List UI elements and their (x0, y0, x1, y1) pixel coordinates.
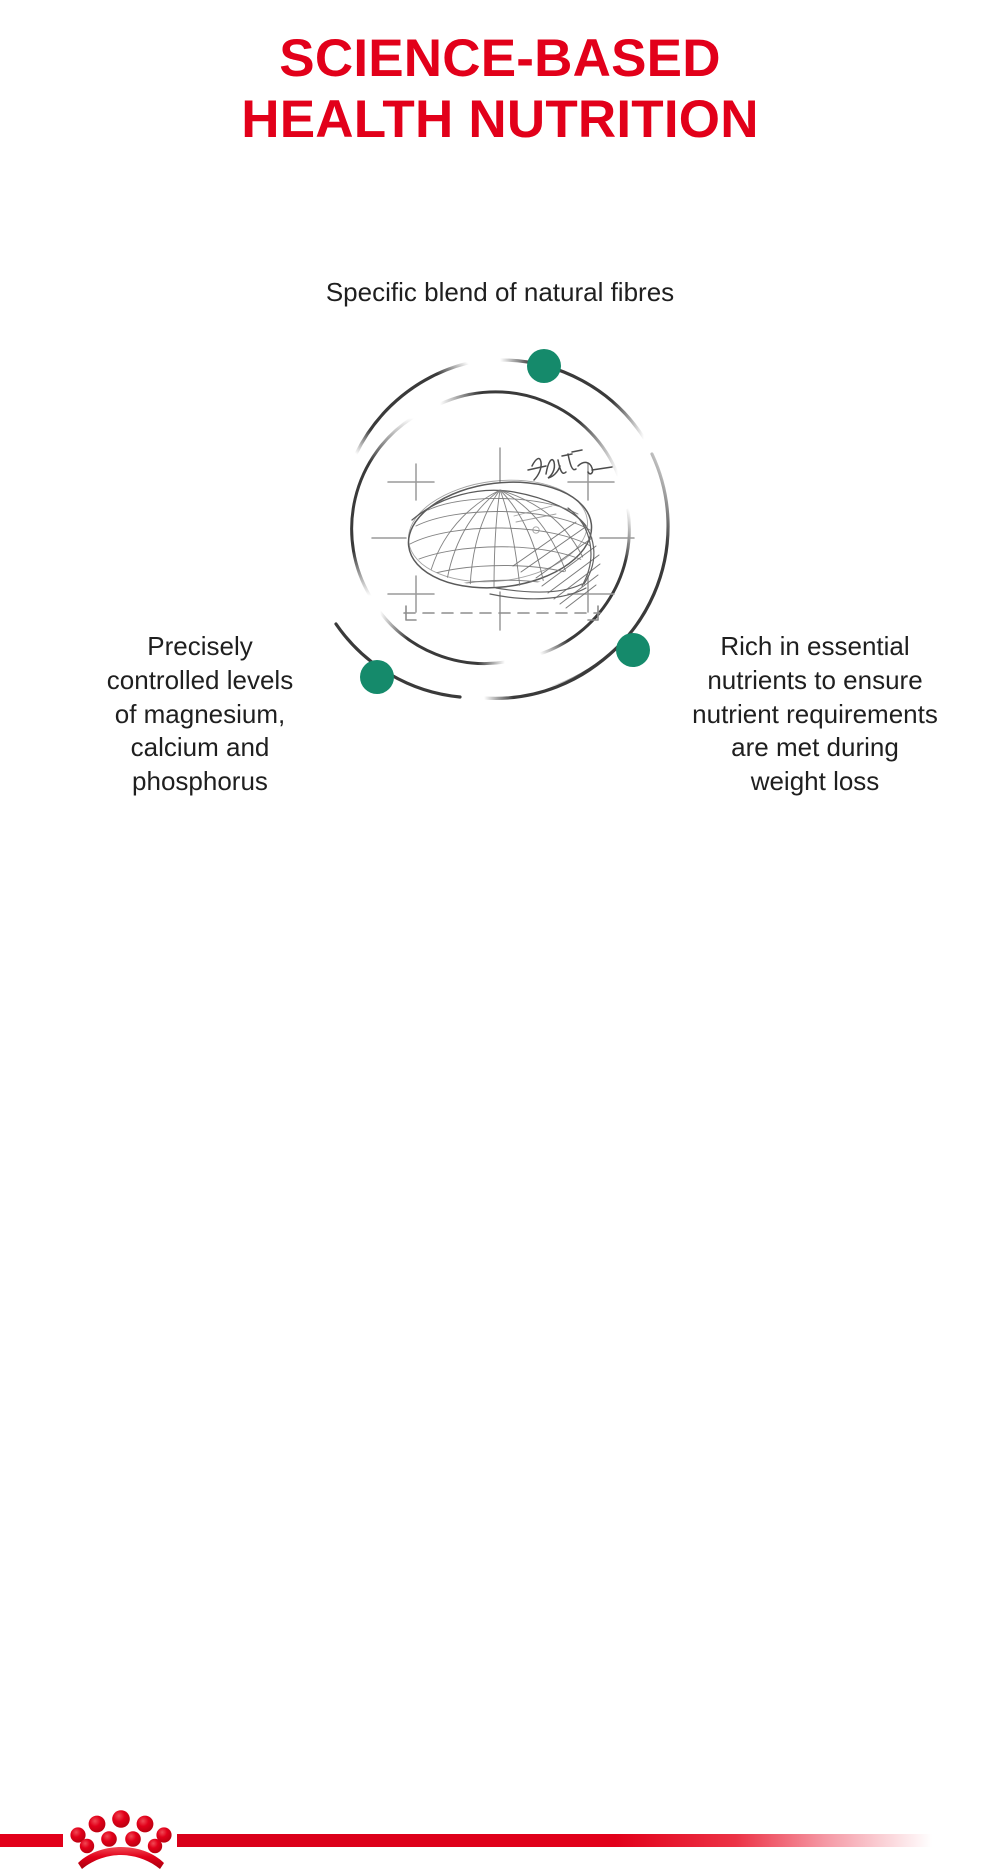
benefit-caption-right-line-2: nutrients to ensure (655, 664, 975, 698)
kibble-meridians (428, 490, 588, 590)
brand-rule-left (0, 1834, 63, 1847)
handwritten-annotation (528, 450, 612, 480)
benefit-caption-top: Specific blend of natural fibres (180, 276, 820, 310)
page-title-line-1: SCIENCE-BASED (0, 28, 1000, 89)
marker-dot-top (527, 349, 561, 383)
promo-panel: SCIENCE-BASED HEALTH NUTRITION Specific … (0, 0, 1000, 1000)
marker-dot-right (616, 633, 650, 667)
royal-canin-crown-logo (62, 1805, 180, 1875)
marker-dot-bottom-left (360, 660, 394, 694)
kibble-contour-sweeps (490, 508, 594, 599)
registration-marks (372, 448, 634, 630)
benefit-caption-left-line-5: phosphorus (40, 765, 360, 799)
kibble-shading-hatch (513, 522, 600, 608)
page-title-line-2: HEALTH NUTRITION (0, 89, 1000, 150)
benefit-caption-right-line-4: are met during (655, 731, 975, 765)
benefit-caption-top-line-1: Specific blend of natural fibres (180, 276, 820, 310)
benefit-caption-right-line-1: Rich in essential (655, 630, 975, 664)
benefit-caption-right: Rich in essential nutrients to ensure nu… (655, 630, 975, 799)
benefit-caption-right-line-3: nutrient requirements (655, 698, 975, 732)
kibble-parallels (410, 498, 594, 590)
dimension-line (404, 606, 600, 620)
page-title: SCIENCE-BASED HEALTH NUTRITION (0, 28, 1000, 151)
brand-footer (0, 900, 1000, 1000)
benefit-caption-left-line-4: calcium and (40, 731, 360, 765)
benefit-caption-right-line-5: weight loss (655, 765, 975, 799)
kibble-wireframe-sketch (372, 448, 634, 630)
brand-rule-right (177, 1834, 932, 1847)
kibble-technical-sketch-diagram (300, 330, 700, 730)
crown-top-row-dots (70, 1810, 171, 1842)
